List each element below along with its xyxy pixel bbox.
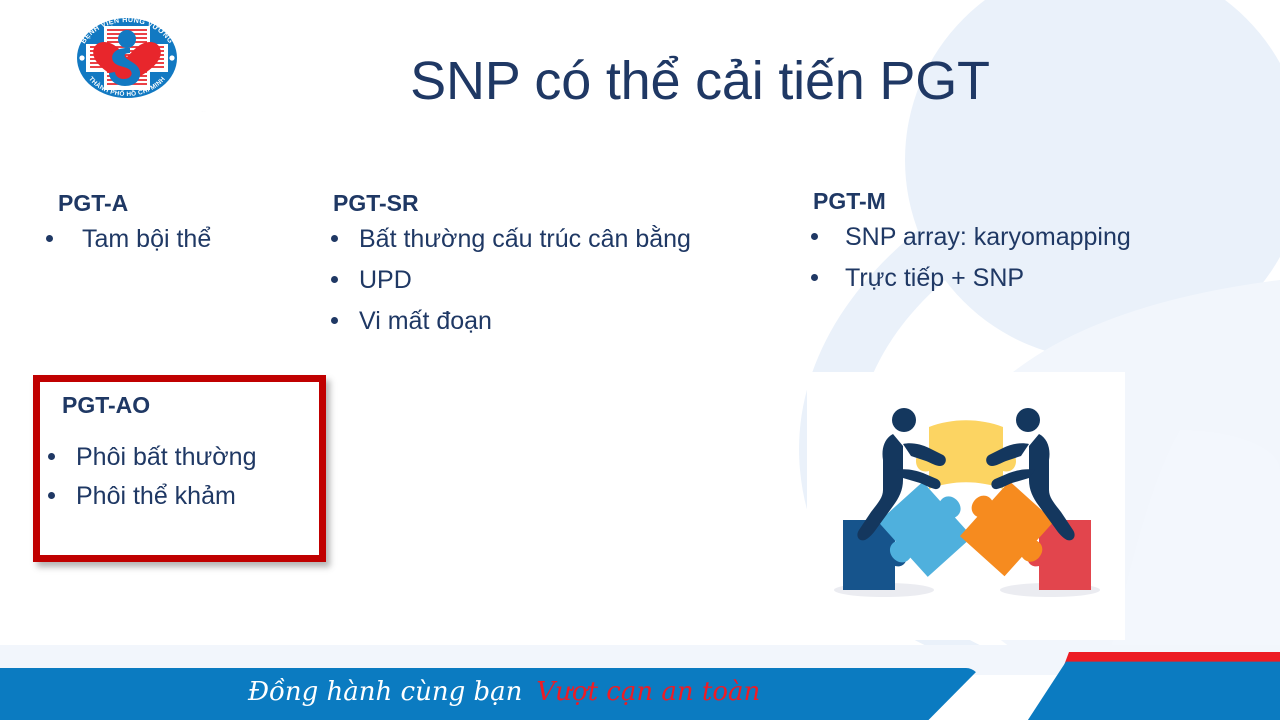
bullet-dot-icon bbox=[48, 492, 55, 499]
bullet-list-pgt-a: Tam bội thể bbox=[40, 227, 330, 268]
list-item-label: UPD bbox=[359, 266, 412, 294]
list-item: Tam bội thể bbox=[40, 227, 330, 268]
bullet-dot-icon bbox=[811, 274, 818, 281]
list-item-label: Phôi bất thường bbox=[76, 443, 256, 471]
list-item: SNP array: karyomapping bbox=[805, 225, 1235, 266]
bullet-dot-icon bbox=[331, 276, 338, 283]
footer-tagline-primary: Đồng hành cùng bạn bbox=[248, 677, 522, 707]
list-item: Phôi thể khảm bbox=[40, 484, 319, 523]
footer-tagline-secondary: Vượt cạn an toàn bbox=[536, 677, 760, 707]
box-heading-pgt-ao: PGT-AO bbox=[40, 392, 319, 419]
slide-title: SNP có thể cải tiến PGT bbox=[300, 52, 1100, 111]
bullet-dot-icon bbox=[46, 235, 53, 242]
bullet-list-pgt-m: SNP array: karyomapping Trực tiếp + SNP bbox=[805, 225, 1235, 307]
column-pgt-m: PGT-M SNP array: karyomapping Trực tiếp … bbox=[805, 188, 1235, 307]
column-heading-pgt-m: PGT-M bbox=[805, 188, 1235, 215]
list-item: Phôi bất thường bbox=[40, 445, 319, 484]
list-item-label: Vi mất đoạn bbox=[359, 307, 492, 335]
bullet-list-pgt-sr: Bất thường cấu trúc cân bằng UPD Vi mất … bbox=[325, 227, 805, 350]
column-pgt-sr: PGT-SR Bất thường cấu trúc cân bằng UPD … bbox=[325, 190, 805, 350]
list-item-label: Phôi thể khảm bbox=[76, 482, 236, 510]
column-heading-pgt-a: PGT-A bbox=[40, 190, 330, 217]
highlight-box-pgt-ao: PGT-AO Phôi bất thường Phôi thể khảm bbox=[33, 375, 326, 562]
list-item: Vi mất đoạn bbox=[325, 309, 805, 350]
list-item-label: Bất thường cấu trúc cân bằng bbox=[359, 225, 691, 253]
footer-banner-right bbox=[1000, 656, 1280, 720]
bullet-dot-icon bbox=[331, 317, 338, 324]
bullet-dot-icon bbox=[811, 233, 818, 240]
list-item-label: Tam bội thể bbox=[82, 225, 211, 253]
hung-vuong-hospital-logo: BỆNH VIỆN HÙNG VƯƠNG THÀNH PHỐ HỒ CHÍ MI… bbox=[60, 8, 194, 104]
list-item: UPD bbox=[325, 268, 805, 309]
list-item-label: Trực tiếp + SNP bbox=[845, 264, 1024, 292]
bullet-list-pgt-ao: Phôi bất thường Phôi thể khảm bbox=[40, 445, 319, 523]
footer-tagline: Đồng hành cùng bạnVượt cạn an toàn bbox=[248, 677, 760, 707]
column-pgt-a: PGT-A Tam bội thể bbox=[40, 190, 330, 268]
bullet-dot-icon bbox=[331, 235, 338, 242]
puzzle-teamwork-illustration bbox=[807, 372, 1125, 640]
bullet-dot-icon bbox=[48, 453, 55, 460]
list-item-label: SNP array: karyomapping bbox=[845, 223, 1131, 251]
column-heading-pgt-sr: PGT-SR bbox=[325, 190, 805, 217]
slide-canvas: BỆNH VIỆN HÙNG VƯƠNG THÀNH PHỐ HỒ CHÍ MI… bbox=[0, 0, 1280, 720]
list-item: Bất thường cấu trúc cân bằng bbox=[325, 227, 805, 268]
list-item: Trực tiếp + SNP bbox=[805, 266, 1235, 307]
